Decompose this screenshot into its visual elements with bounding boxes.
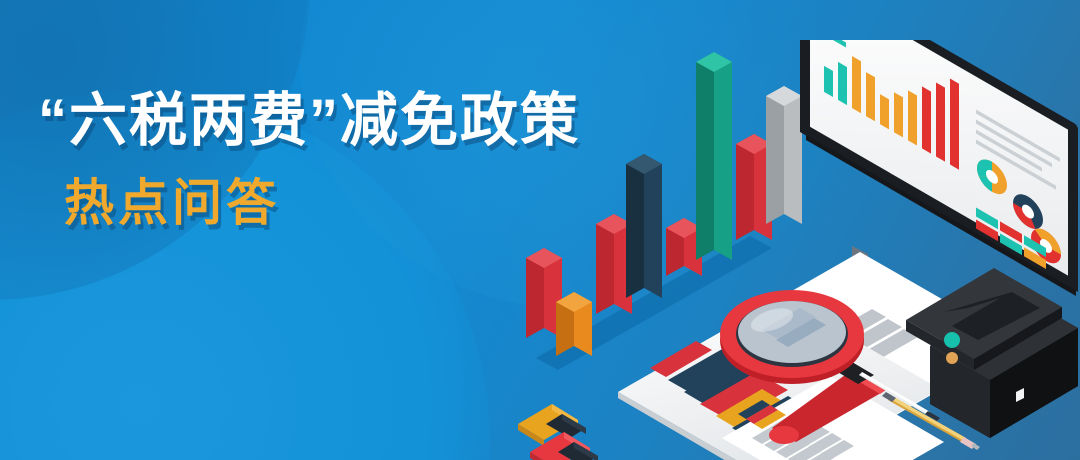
banner-title: “六税两费”减免政策 [38,92,580,150]
highlighter-markers [518,404,598,460]
isometric-illustration [500,40,1080,460]
magnifier-lens [720,290,864,384]
bar-gray-1 [766,86,802,224]
tower-power-led [944,332,960,348]
bar-green-1 [696,52,732,260]
tower-activity-led [946,352,958,364]
banner-subtitle: 热点问答 [64,178,580,228]
tax-policy-banner: “六税两费”减免政策 热点问答 [0,0,1080,460]
headline-group: “六税两费”减免政策 热点问答 [38,92,580,228]
bar-navy-1 [626,154,662,298]
